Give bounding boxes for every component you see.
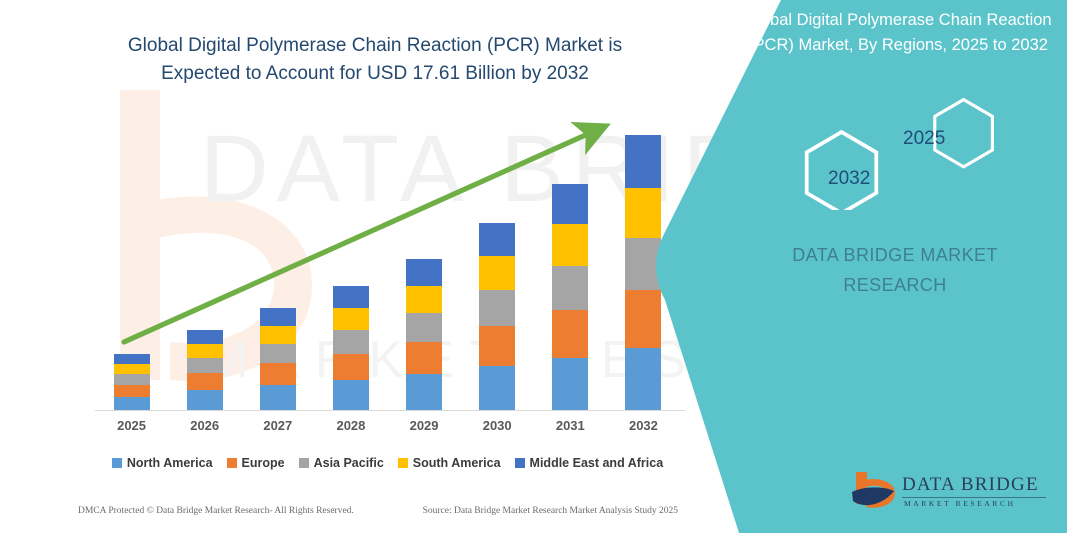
- footer-copyright: DMCA Protected © Data Bridge Market Rese…: [78, 506, 354, 516]
- stacked-bar: [406, 259, 442, 410]
- stacked-bar: [552, 184, 588, 410]
- bar-chart-bars: [95, 110, 680, 410]
- bar-segment: [406, 374, 442, 410]
- bar-segment: [114, 364, 150, 374]
- bar-segment: [406, 342, 442, 374]
- bar-segment: [333, 354, 369, 380]
- bar-segment: [552, 310, 588, 358]
- x-axis-labels: 20252026202720282029203020312032: [95, 418, 680, 433]
- bar-segment: [114, 385, 150, 397]
- legend-item[interactable]: North America: [112, 456, 213, 470]
- bar-segment: [114, 354, 150, 364]
- bar-segment: [552, 266, 588, 310]
- bar-column: [168, 110, 241, 410]
- logo-title: DATA BRIDGE: [902, 474, 1039, 496]
- x-axis-label: 2026: [168, 418, 241, 433]
- bar-segment: [333, 330, 369, 354]
- panel-title: Global Digital Polymerase Chain Reaction…: [738, 8, 1058, 58]
- bar-segment: [333, 308, 369, 330]
- legend-label: North America: [127, 456, 213, 470]
- bar-segment: [260, 326, 296, 344]
- x-axis-label: 2031: [534, 418, 607, 433]
- legend-item[interactable]: South America: [398, 456, 501, 470]
- bar-segment: [479, 366, 515, 410]
- bar-column: [534, 110, 607, 410]
- footer-source: Source: Data Bridge Market Research Mark…: [423, 506, 678, 516]
- bar-segment: [552, 184, 588, 224]
- hexagon-year-label: 2025: [903, 128, 945, 150]
- hexagon-group: 20252032: [798, 90, 1038, 210]
- bar-column: [241, 110, 314, 410]
- stacked-bar: [479, 223, 515, 410]
- panel-content: Global Digital Polymerase Chain Reaction…: [720, 0, 1067, 533]
- bar-segment: [479, 290, 515, 326]
- bar-segment: [406, 286, 442, 313]
- bar-segment: [479, 326, 515, 366]
- bar-segment: [625, 135, 661, 188]
- panel-brand-text: DATA BRIDGE MARKET RESEARCH: [750, 240, 1040, 300]
- bar-segment: [187, 390, 223, 410]
- bar-segment: [625, 348, 661, 410]
- bar-segment: [187, 344, 223, 358]
- bar-segment: [114, 397, 150, 410]
- legend-label: Europe: [242, 456, 285, 470]
- legend-swatch: [398, 458, 408, 468]
- chart-x-axis: [95, 410, 685, 411]
- legend-item[interactable]: Europe: [227, 456, 285, 470]
- logo-subtitle: MARKET RESEARCH: [904, 499, 1016, 508]
- bar-segment: [406, 313, 442, 342]
- x-axis-label: 2027: [241, 418, 314, 433]
- x-axis-label: 2032: [607, 418, 680, 433]
- bar-segment: [333, 286, 369, 308]
- stacked-bar: [333, 286, 369, 410]
- legend-swatch: [112, 458, 122, 468]
- bar-segment: [260, 385, 296, 410]
- chart-legend: North AmericaEuropeAsia PacificSouth Ame…: [95, 456, 680, 470]
- bar-segment: [187, 330, 223, 344]
- x-axis-label: 2030: [461, 418, 534, 433]
- bar-segment: [333, 380, 369, 410]
- bar-column: [95, 110, 168, 410]
- stacked-bar: [260, 308, 296, 410]
- legend-label: Middle East and Africa: [530, 456, 664, 470]
- bar-segment: [552, 224, 588, 266]
- legend-swatch: [299, 458, 309, 468]
- x-axis-label: 2025: [95, 418, 168, 433]
- legend-label: South America: [413, 456, 501, 470]
- bar-segment: [625, 188, 661, 238]
- bar-segment: [114, 374, 150, 385]
- stacked-bar: [625, 135, 661, 410]
- legend-swatch: [227, 458, 237, 468]
- bar-segment: [479, 256, 515, 290]
- bar-segment: [406, 259, 442, 286]
- infographic-root: DATA BRIDGE MARKET RESEARCH Global Digit…: [0, 0, 1067, 533]
- bar-column: [607, 110, 680, 410]
- hexagon-year-label: 2032: [828, 168, 870, 190]
- x-axis-label: 2028: [314, 418, 387, 433]
- footer: DMCA Protected © Data Bridge Market Rese…: [78, 506, 678, 516]
- bar-segment: [260, 363, 296, 385]
- bar-column: [461, 110, 534, 410]
- bar-column: [314, 110, 387, 410]
- chart-title: Global Digital Polymerase Chain Reaction…: [95, 32, 655, 88]
- bar-segment: [625, 238, 661, 290]
- stacked-bar: [114, 354, 150, 410]
- bar-column: [388, 110, 461, 410]
- legend-item[interactable]: Asia Pacific: [299, 456, 384, 470]
- logo-b-icon: [850, 470, 898, 514]
- logo-divider: [902, 497, 1046, 498]
- bar-segment: [479, 223, 515, 256]
- legend-label: Asia Pacific: [314, 456, 384, 470]
- x-axis-label: 2029: [388, 418, 461, 433]
- data-bridge-logo: DATA BRIDGE MARKET RESEARCH: [850, 470, 1050, 518]
- bar-segment: [187, 358, 223, 373]
- legend-swatch: [515, 458, 525, 468]
- bar-segment: [260, 344, 296, 363]
- legend-item[interactable]: Middle East and Africa: [515, 456, 664, 470]
- bar-segment: [552, 358, 588, 410]
- bar-segment: [260, 308, 296, 326]
- bar-segment: [625, 290, 661, 348]
- stacked-bar: [187, 330, 223, 410]
- bar-segment: [187, 373, 223, 390]
